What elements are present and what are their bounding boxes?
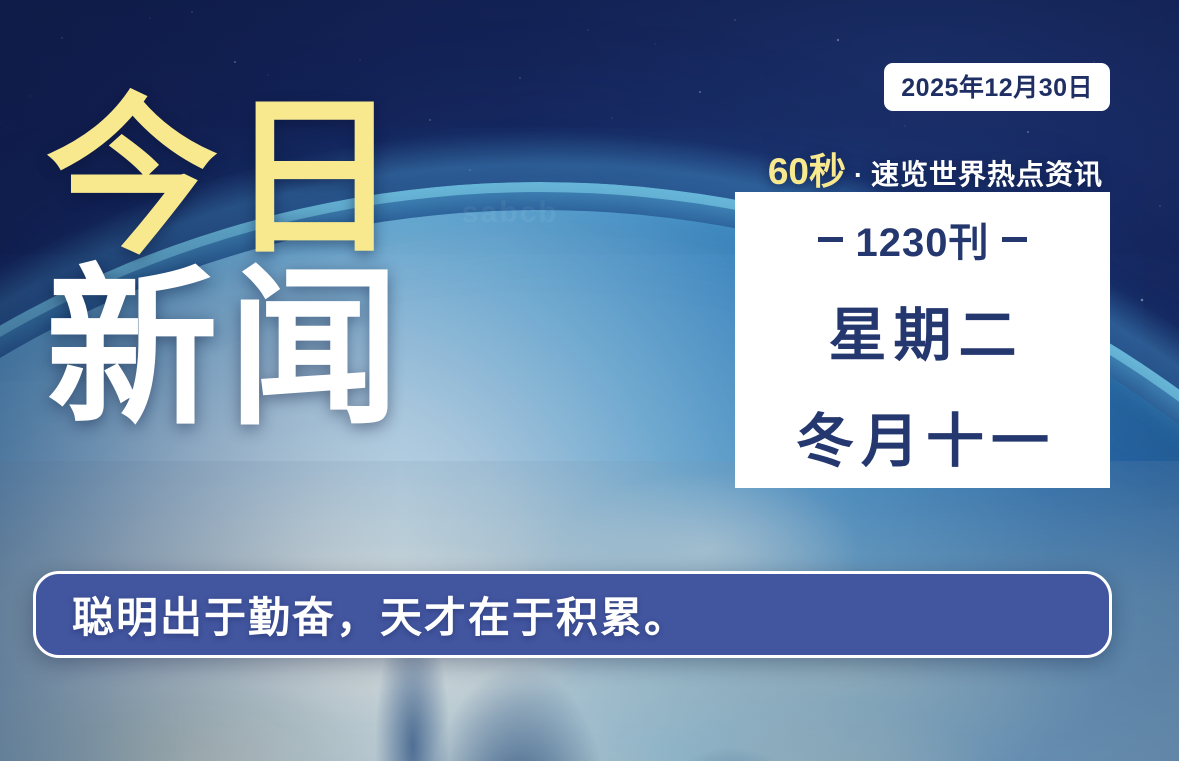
issue-dash-left-icon [818, 237, 843, 242]
masthead-line-news: 新闻 [46, 267, 410, 432]
quote-text: 聪明出于勤奋，天才在于积累。 [36, 584, 688, 645]
masthead-line-today: 今日 [46, 96, 410, 261]
weekday-label: 星期二 [821, 288, 1023, 372]
masthead: 今日 新闻 [46, 96, 410, 432]
tagline-separator-dot: · [852, 160, 865, 191]
quote-bar: 聪明出于勤奋，天才在于积累。 [33, 571, 1112, 658]
tagline-duration: 60秒 [768, 141, 846, 195]
tagline-description: 速览世界热点资讯 [871, 153, 1103, 193]
issue-info-card: 1230刊 星期二 冬月十一 [735, 192, 1110, 488]
news-poster: sabcb 今日 新闻 2025年12月30日 60秒 · 速览世界热点资讯 1… [0, 0, 1179, 761]
issue-dash-right-icon [1002, 237, 1027, 242]
date-badge: 2025年12月30日 [884, 63, 1110, 111]
tagline: 60秒 · 速览世界热点资讯 [768, 141, 1103, 195]
issue-number: 1230刊 [856, 210, 990, 268]
issue-number-row: 1230刊 [818, 210, 1028, 268]
lunar-date-label: 冬月十一 [789, 394, 1056, 478]
